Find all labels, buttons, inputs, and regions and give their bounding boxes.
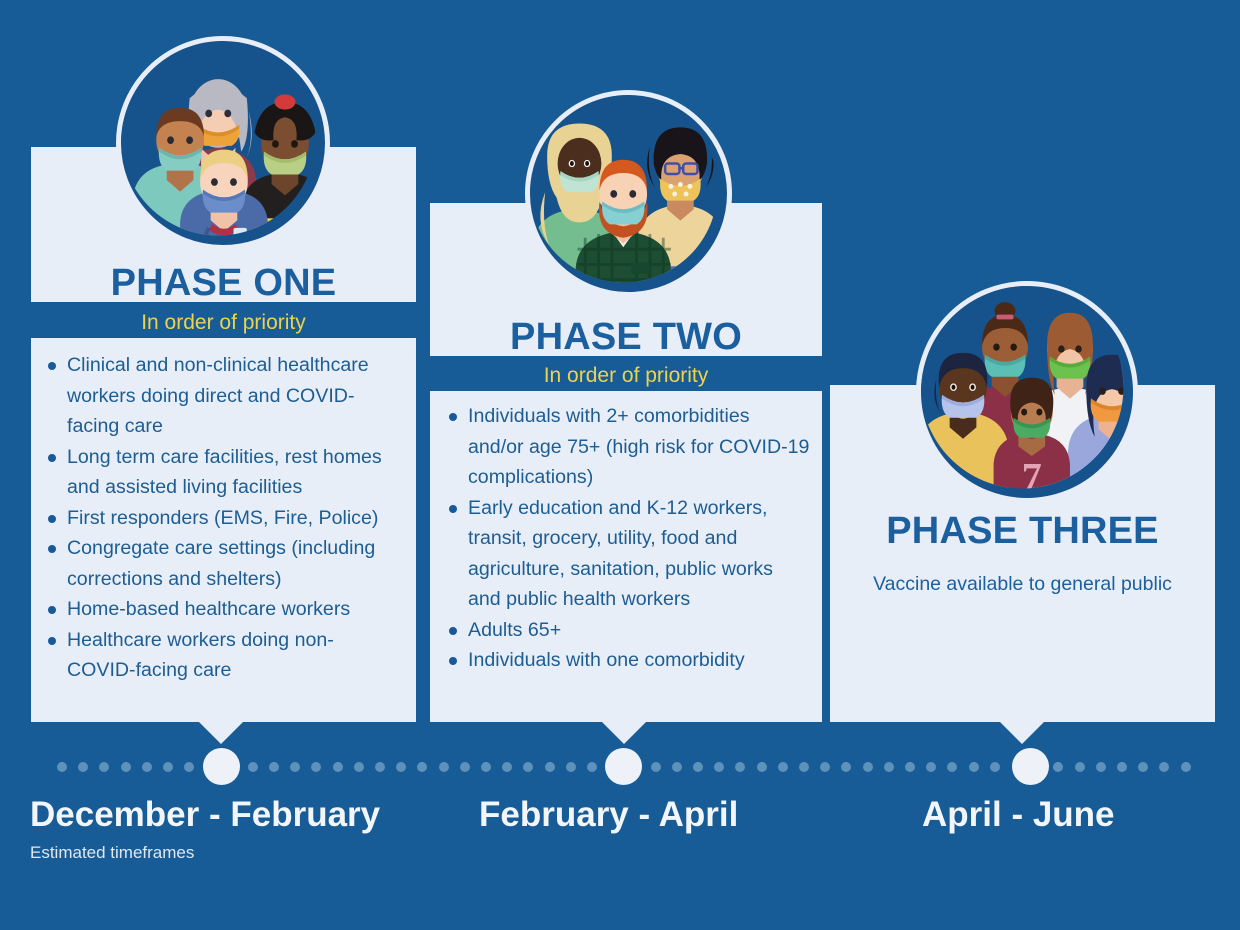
timeline-dot <box>439 762 449 772</box>
timeline-dot <box>523 762 533 772</box>
timeline-dot <box>311 762 321 772</box>
timeline-label-phase-three: April - June <box>922 797 1115 832</box>
timeline-dot <box>163 762 173 772</box>
timeline-dot <box>884 762 894 772</box>
timeline-dot <box>481 762 491 772</box>
phase-three-title: PHASE THREE <box>830 512 1215 550</box>
timeline-dot <box>1117 762 1127 772</box>
timeline-node-phase-two[interactable] <box>605 748 642 785</box>
illustration-art <box>530 95 727 292</box>
timeline-label-phase-two: February - April <box>479 797 738 832</box>
list-item: Congregate care settings (including corr… <box>39 533 402 594</box>
timeline-node-phase-one[interactable] <box>203 748 240 785</box>
timeline-label-phase-one: December - February <box>30 797 380 832</box>
phase-two-pointer <box>602 722 646 744</box>
timeline-dot <box>990 762 1000 772</box>
timeline-dot <box>99 762 109 772</box>
phase-two-body-panel: Individuals with 2+ comorbidities and/or… <box>430 391 822 722</box>
infographic-root: PHASE ONE In order of priority Clinical … <box>0 0 1240 930</box>
timeline-dot <box>969 762 979 772</box>
phase-three-pointer <box>1000 722 1044 744</box>
timeline-dot <box>460 762 470 772</box>
timeline-dot <box>1138 762 1148 772</box>
timeline-dot <box>502 762 512 772</box>
illustration-art: 7 <box>921 286 1133 498</box>
timeline-dot <box>841 762 851 772</box>
timeline-dot <box>905 762 915 772</box>
timeline-dot <box>587 762 597 772</box>
phase-two-bullet-list: Individuals with 2+ comorbidities and/or… <box>440 401 810 676</box>
phase-three-note: Vaccine available to general public <box>830 575 1215 595</box>
timeline-dot <box>248 762 258 772</box>
essential-workers-illustration <box>525 90 732 297</box>
timeline-dot <box>863 762 873 772</box>
timeline-dot <box>757 762 767 772</box>
timeline-dot <box>417 762 427 772</box>
timeline-dot <box>57 762 67 772</box>
timeline-dot <box>142 762 152 772</box>
timeline-dot <box>566 762 576 772</box>
timeline-dot <box>184 762 194 772</box>
timeline-dot <box>1075 762 1085 772</box>
general-public-family-illustration: 7 <box>916 281 1138 503</box>
timeline <box>0 749 1240 785</box>
list-item: Home-based healthcare workers <box>39 594 402 625</box>
phase-one-subtitle: In order of priority <box>31 312 416 333</box>
timeline-dot <box>375 762 385 772</box>
timeline-dot <box>778 762 788 772</box>
svg-text:7: 7 <box>1022 454 1042 498</box>
timeline-dot <box>926 762 936 772</box>
timeline-dot <box>799 762 809 772</box>
timeline-dot <box>396 762 406 772</box>
timeline-dot <box>1096 762 1106 772</box>
timeline-dot <box>333 762 343 772</box>
phase-two-title: PHASE TWO <box>430 318 822 356</box>
timeline-dot <box>78 762 88 772</box>
timeline-dot <box>290 762 300 772</box>
phase-one-title: PHASE ONE <box>31 264 416 302</box>
timeline-dot <box>820 762 830 772</box>
timeline-footnote: Estimated timeframes <box>30 844 194 861</box>
list-item: Clinical and non-clinical healthcare wor… <box>39 350 402 442</box>
list-item: First responders (EMS, Fire, Police) <box>39 503 402 534</box>
phase-one-pointer <box>199 722 243 744</box>
phase-one-bullet-list: Clinical and non-clinical healthcare wor… <box>39 350 402 686</box>
timeline-dot <box>1181 762 1191 772</box>
list-item: Healthcare workers doing non-COVID-facin… <box>39 625 402 686</box>
timeline-dot <box>714 762 724 772</box>
timeline-dot <box>1053 762 1063 772</box>
timeline-dot <box>121 762 131 772</box>
phase-two-subtitle: In order of priority <box>430 365 822 386</box>
timeline-node-phase-three[interactable] <box>1012 748 1049 785</box>
timeline-dot <box>947 762 957 772</box>
timeline-dot <box>735 762 745 772</box>
illustration-art <box>121 41 325 245</box>
list-item: Long term care facilities, rest homes an… <box>39 442 402 503</box>
timeline-dot <box>545 762 555 772</box>
list-item: Early education and K-12 workers, transi… <box>440 493 810 615</box>
healthcare-and-first-responders-illustration <box>116 36 330 250</box>
timeline-dot <box>672 762 682 772</box>
list-item: Adults 65+ <box>440 615 810 646</box>
timeline-dot <box>1159 762 1169 772</box>
timeline-dot <box>651 762 661 772</box>
list-item: Individuals with 2+ comorbidities and/or… <box>440 401 810 493</box>
timeline-dot <box>269 762 279 772</box>
timeline-dot <box>693 762 703 772</box>
list-item: Individuals with one comorbidity <box>440 645 810 676</box>
timeline-dot <box>354 762 364 772</box>
phase-one-body-panel: Clinical and non-clinical healthcare wor… <box>31 338 416 722</box>
